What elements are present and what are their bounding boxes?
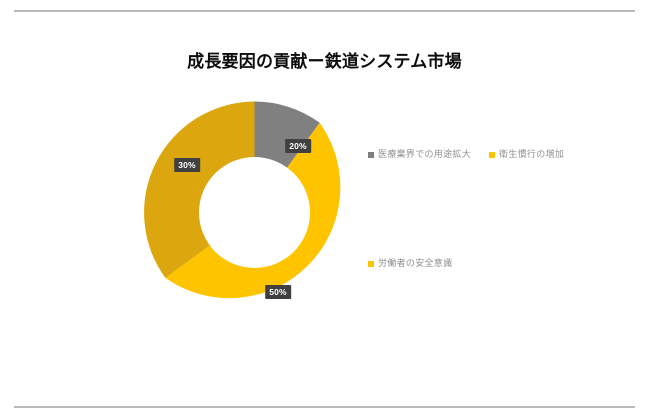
legend-swatch-icon-worker-safety bbox=[368, 261, 374, 267]
legend-item-medical[interactable]: 医療業界での用途拡大 bbox=[368, 148, 471, 161]
legend-label-worker-safety: 労働者の安全意識 bbox=[378, 257, 452, 270]
page-title: 成長要因の貢献ー鉄道システム市場 bbox=[0, 50, 649, 74]
donut-chart-svg bbox=[132, 95, 377, 330]
legend-row-bottom: 労働者の安全意識 bbox=[368, 257, 638, 270]
donut-hole bbox=[199, 157, 310, 268]
data-label-gray: 20% bbox=[285, 139, 311, 153]
legend-item-hygiene[interactable]: 衛生慣行の増加 bbox=[489, 148, 564, 161]
legend-item-worker-safety[interactable]: 労働者の安全意識 bbox=[368, 257, 452, 270]
top-divider bbox=[14, 10, 635, 12]
data-label-bright-yellow: 50% bbox=[265, 285, 291, 299]
legend-label-hygiene: 衛生慣行の増加 bbox=[499, 148, 564, 161]
legend-swatch-icon-hygiene bbox=[489, 152, 495, 158]
slide-canvas: 成長要因の貢献ー鉄道システム市場 20% 50% 30% 医療業界での用途拡大 … bbox=[0, 0, 649, 420]
donut-chart: 20% 50% 30% bbox=[132, 95, 377, 330]
legend-row-top: 医療業界での用途拡大 衛生慣行の増加 bbox=[368, 148, 638, 161]
data-label-amber: 30% bbox=[174, 158, 200, 172]
legend-swatch-icon-medical bbox=[368, 152, 374, 158]
bottom-divider bbox=[14, 406, 635, 408]
chart-legend: 医療業界での用途拡大 衛生慣行の増加 労働者の安全意識 bbox=[368, 148, 638, 270]
legend-label-medical: 医療業界での用途拡大 bbox=[378, 148, 471, 161]
